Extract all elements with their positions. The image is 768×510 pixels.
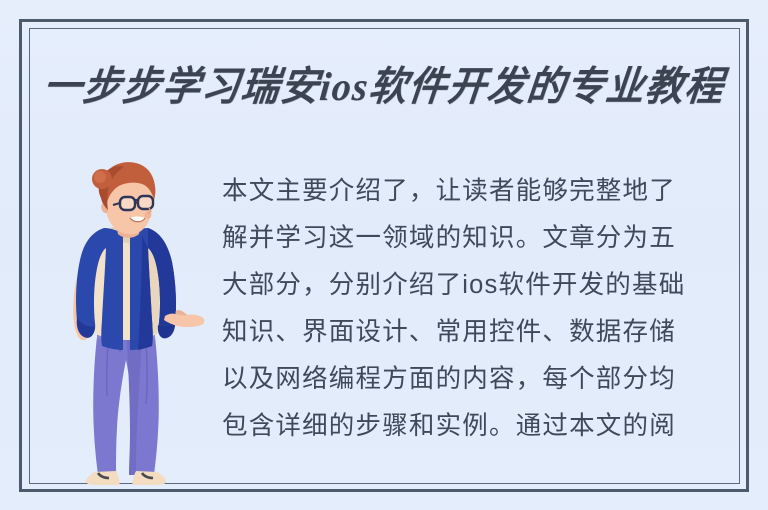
glasses-lens-left [120,197,135,210]
body-line: 解并学习这一领域的知识。文章分为五 [222,215,734,262]
glasses-bridge [135,202,138,203]
body-paragraph: 本文主要介绍了，让读者能够完整地了 解并学习这一领域的知识。文章分为五 大部分，… [222,168,734,450]
hair-bun-highlight [94,171,106,183]
poster-canvas: 一步步学习瑞安ios软件开发的专业教程 [0,0,768,510]
body-line: 包含详细的步骤和实例。通过本文的阅 [222,403,734,450]
person-svg [60,160,205,485]
glasses-lens-right [138,196,153,209]
body-line: 知识、界面设计、常用控件、数据存储 [222,309,734,356]
page-title-text: 一步步学习瑞安ios软件开发的专业教程 [41,53,728,111]
page-title: 一步步学习瑞安ios软件开发的专业教程 [29,46,740,118]
body-line: 以及网络编程方面的内容，每个部分均 [222,356,734,403]
pants [93,328,159,475]
body-line: 大部分，分别介绍了ios软件开发的基础 [222,262,734,309]
woman-with-glasses-illustration [60,160,205,485]
body-line: 本文主要介绍了，让读者能够完整地了 [222,168,734,215]
